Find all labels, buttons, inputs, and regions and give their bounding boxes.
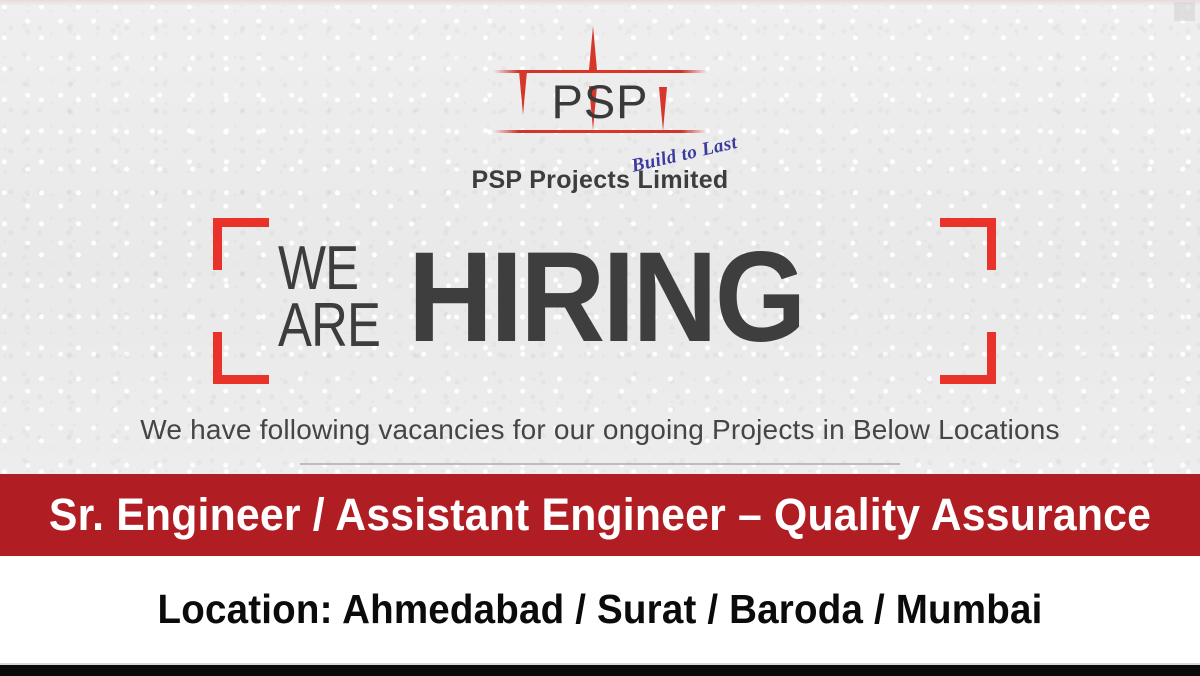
vacancy-subheading: We have following vacancies for our ongo…	[0, 414, 1200, 446]
corner-bracket-bottom-left-icon	[213, 332, 269, 384]
paper-top-edge-line	[0, 0, 1200, 5]
logo-bar-bottom	[493, 130, 707, 133]
scrollbar-thumb-artifact[interactable]	[1174, 2, 1195, 21]
psp-logo-mark-icon: PSP	[493, 38, 707, 148]
psp-logo-block: PSP Build to Last PSP Projects Limited	[0, 38, 1200, 198]
location-text: Location: Ahmedabad / Surat / Baroda / M…	[36, 586, 1164, 633]
headline-we: WE	[278, 240, 380, 297]
location-strip: Location: Ahmedabad / Surat / Baroda / M…	[0, 556, 1200, 663]
subheading-divider	[300, 463, 900, 465]
we-are-text: WE ARE	[278, 240, 380, 354]
corner-bracket-top-left-icon	[213, 218, 269, 270]
headline-hiring: HIRING	[408, 240, 804, 356]
logo-spike-top-center	[589, 26, 597, 70]
corner-bracket-top-right-icon	[940, 218, 996, 270]
bottom-black-bar	[0, 663, 1200, 676]
logo-psp-text: PSP	[493, 78, 707, 125]
we-are-hiring-block: WE ARE HIRING	[210, 212, 1000, 392]
headline-are: ARE	[278, 297, 380, 354]
hiring-poster: PSP Build to Last PSP Projects Limited W…	[0, 0, 1200, 676]
logo-company-name: PSP Projects Limited	[0, 166, 1200, 195]
position-banner-text: Sr. Engineer / Assistant Engineer – Qual…	[30, 489, 1170, 541]
position-banner: Sr. Engineer / Assistant Engineer – Qual…	[0, 474, 1200, 556]
corner-bracket-bottom-right-icon	[940, 332, 996, 384]
